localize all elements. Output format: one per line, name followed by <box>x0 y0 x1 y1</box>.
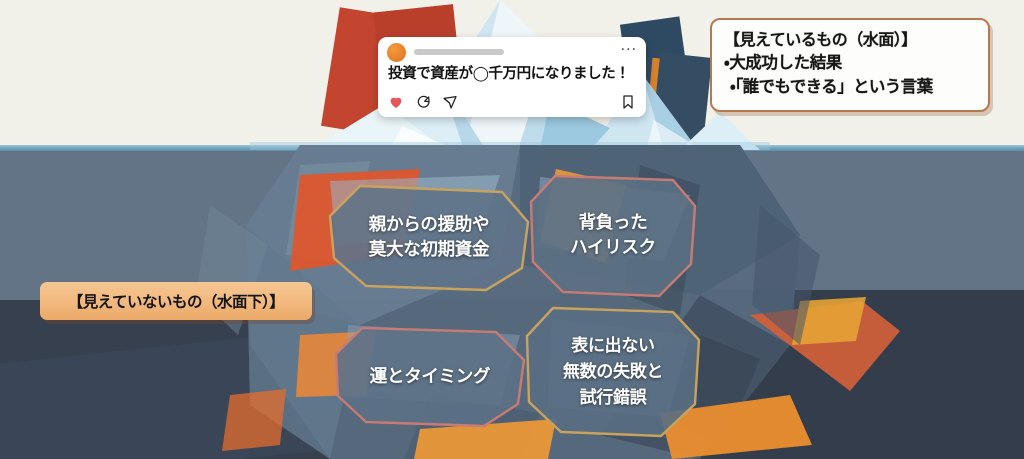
label-hidden-below-water: 【見えていないもの（水面下）】 <box>40 282 312 320</box>
callout-bullet-1: ・大成功した結果 <box>724 51 978 75</box>
more-options-icon[interactable]: ··· <box>621 43 637 57</box>
hidden-card-parental-support[interactable]: 親からの援助や 莫大な初期資金 <box>326 182 532 294</box>
hidden-card-luck-timing[interactable]: 運とタイミング <box>332 324 528 430</box>
comment-icon[interactable] <box>415 94 431 110</box>
bookmark-icon[interactable] <box>620 94 636 110</box>
label-hidden-text: 【見えていないもの（水面下）】 <box>68 290 284 312</box>
hidden-card-unseen-failures[interactable]: 表に出ない 無数の失敗と 試行錯誤 <box>523 304 703 440</box>
post-caption: 投資で資産が◯千万円になりました！ <box>388 62 638 83</box>
share-icon[interactable] <box>442 94 458 110</box>
hidden-card-high-risk[interactable]: 背負った ハイリスク <box>527 172 699 300</box>
post-action-bar <box>388 94 636 112</box>
infographic-canvas: ··· 投資で資産が◯千万円になりました！ <box>0 0 1024 459</box>
avatar <box>387 43 406 62</box>
username-placeholder-bar <box>414 49 504 55</box>
heart-icon[interactable] <box>388 94 404 110</box>
post-header: ··· <box>378 37 646 63</box>
callout-bullet-2: ・「誰でもできる」という言葉 <box>724 75 978 99</box>
social-post-card[interactable]: ··· 投資で資産が◯千万円になりました！ <box>378 37 646 117</box>
callout-heading: 【見えているもの（水面）】 <box>724 28 978 51</box>
callout-visible-above-water: 【見えているもの（水面）】 ・大成功した結果 ・「誰でもできる」という言葉 <box>710 18 990 112</box>
